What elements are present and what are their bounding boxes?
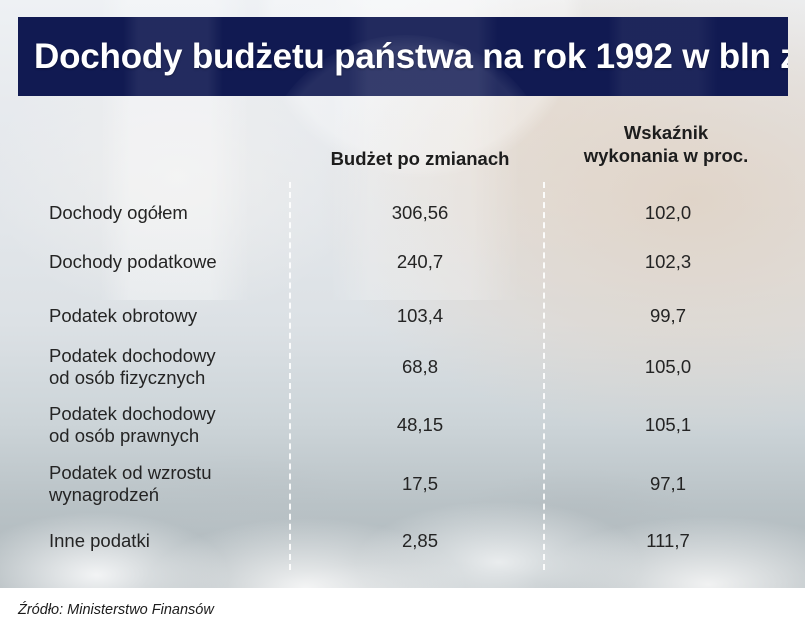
row-label: Podatek obrotowy [49, 305, 284, 327]
row-budget-value: 48,15 [300, 414, 540, 436]
row-label-line2: wynagrodzeń [49, 484, 284, 506]
row-budget-value: 17,5 [300, 473, 540, 495]
row-budget-value: 2,85 [300, 530, 540, 552]
row-budget-value: 240,7 [300, 251, 540, 273]
row-label-line1: Podatek od wzrostu [49, 462, 284, 484]
footer-area: Źródło: Ministerstwo Finansów [0, 588, 805, 632]
row-label-line2: od osób fizycznych [49, 367, 284, 389]
row-indicator-value: 111,7 [548, 530, 788, 552]
row-indicator-value: 99,7 [548, 305, 788, 327]
row-indicator-value: 97,1 [548, 473, 788, 495]
row-label-line2: od osób prawnych [49, 425, 284, 447]
row-label-line1: Podatek dochodowy [49, 345, 284, 367]
row-label-line1: Dochody ogółem [49, 202, 284, 224]
row-label: Podatek od wzrostuwynagrodzeń [49, 462, 284, 506]
row-indicator-value: 105,0 [548, 356, 788, 378]
row-label: Inne podatki [49, 530, 284, 552]
row-budget-value: 306,56 [300, 202, 540, 224]
row-indicator-value: 102,0 [548, 202, 788, 224]
row-budget-value: 103,4 [300, 305, 540, 327]
row-label-line1: Podatek dochodowy [49, 403, 284, 425]
row-label: Podatek dochodowyod osób prawnych [49, 403, 284, 447]
row-label: Podatek dochodowyod osób fizycznych [49, 345, 284, 389]
table-body: Dochody ogółem306,56102,0Dochody podatko… [0, 0, 805, 588]
row-indicator-value: 102,3 [548, 251, 788, 273]
row-label-line1: Inne podatki [49, 530, 284, 552]
row-indicator-value: 105,1 [548, 414, 788, 436]
row-label-line1: Podatek obrotowy [49, 305, 284, 327]
row-label: Dochody podatkowe [49, 251, 284, 273]
row-label-line1: Dochody podatkowe [49, 251, 284, 273]
row-label: Dochody ogółem [49, 202, 284, 224]
source-note: Źródło: Ministerstwo Finansów [18, 602, 214, 618]
infographic-panel: Dochody budżetu państwa na rok 1992 w bl… [0, 0, 805, 588]
row-budget-value: 68,8 [300, 356, 540, 378]
